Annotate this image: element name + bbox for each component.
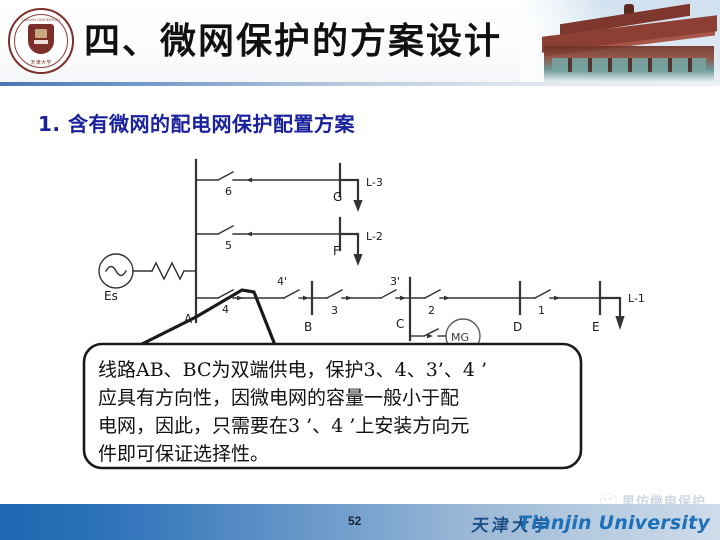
direction-arrow-2 [444,296,450,301]
label-bus-G: G [333,190,342,204]
load-L2-arrow [353,254,362,266]
load-L3-drop [340,180,358,202]
direction-arrow-3p [400,296,406,301]
university-name-en: Tianjin University [518,512,710,534]
callout-line-2: 应具有方向性，因微电网的容量一般小于配 [98,387,459,409]
breaker-1-blade [535,290,550,298]
seal-arc-top-text: TIANJIN UNIVERSITY [10,18,72,22]
load-L2-drop [340,234,358,256]
label-protection-3p: 3' [390,275,400,288]
label-bus-F: F [333,244,340,258]
page-title: 四、微网保护的方案设计 [84,12,502,64]
label-bus-C: C [396,317,404,331]
direction-arrow-6 [246,178,252,183]
label-feeder-L1: L-1 [628,292,645,305]
label-feeder-L2: L-2 [366,230,383,243]
seal-shield [28,24,54,54]
distribution-network-diagram: 6 5 4 4' 3 3' 2 1 Es A B C D E F G L-3 L… [0,150,720,360]
section-subtitle: 1. 含有微网的配电网保护配置方案 [38,108,355,137]
direction-arrow-3 [346,296,352,301]
label-protection-6: 6 [225,185,232,198]
diagram-svg: 6 5 4 4' 3 3' 2 1 Es A B C D E F G L-3 L… [0,150,720,360]
breaker-3-blade [327,290,342,298]
callout-line-4: 件即可保证选择性。 [98,443,269,465]
load-L1-drop [600,298,620,318]
load-L3-arrow [353,200,362,212]
impedance-zigzag [152,263,184,279]
breaker-4p-blade [284,290,299,298]
slide: TIANJIN UNIVERSITY 天津大学 四、微网保护的方案设计 1. 含… [0,0,720,540]
source-sine [106,267,126,276]
direction-arrow-5 [246,232,252,237]
page-number: 52 [348,514,361,528]
label-protection-1: 1 [538,304,545,317]
campus-temple-photo [520,0,720,84]
load-L1-arrow [615,316,624,330]
breaker-6-blade [218,172,233,180]
seal-arc-bottom-text: 天津大学 [10,59,72,66]
direction-arrow-4p [303,296,309,301]
callout-line-3: 电网，因此，只需要在3 ’、4 ’上安装方向元 [98,415,469,437]
breaker-5-blade [218,226,233,234]
tianjin-university-seal-icon: TIANJIN UNIVERSITY 天津大学 [8,8,74,74]
label-protection-4: 4 [222,303,229,316]
temple-windows [552,58,706,72]
label-protection-3: 3 [331,304,338,317]
slide-footer: 52 天津大学 Tianjin University [0,504,720,540]
label-protection-4p: 4' [277,275,287,288]
callout-svg: 线路AB、BC为双端供电，保护3、4、3’、4 ’ 应具有方向性，因微电网的容量… [0,330,720,480]
label-source-Es: Es [104,289,118,303]
label-feeder-L3: L-3 [366,176,383,189]
direction-arrow-4 [237,296,243,301]
breaker-2-blade [425,290,440,298]
direction-arrow-1 [554,296,560,301]
slide-header: TIANJIN UNIVERSITY 天津大学 四、微网保护的方案设计 [0,0,720,84]
header-divider [0,82,720,86]
callout-box: 线路AB、BC为双端供电，保护3、4、3’、4 ’ 应具有方向性，因微电网的容量… [0,330,720,480]
label-protection-5: 5 [225,239,232,252]
breaker-3p-blade [381,290,396,298]
label-bus-A: A [184,312,193,326]
callout-line-1: 线路AB、BC为双端供电，保护3、4、3’、4 ’ [98,359,487,381]
label-protection-2: 2 [428,304,435,317]
